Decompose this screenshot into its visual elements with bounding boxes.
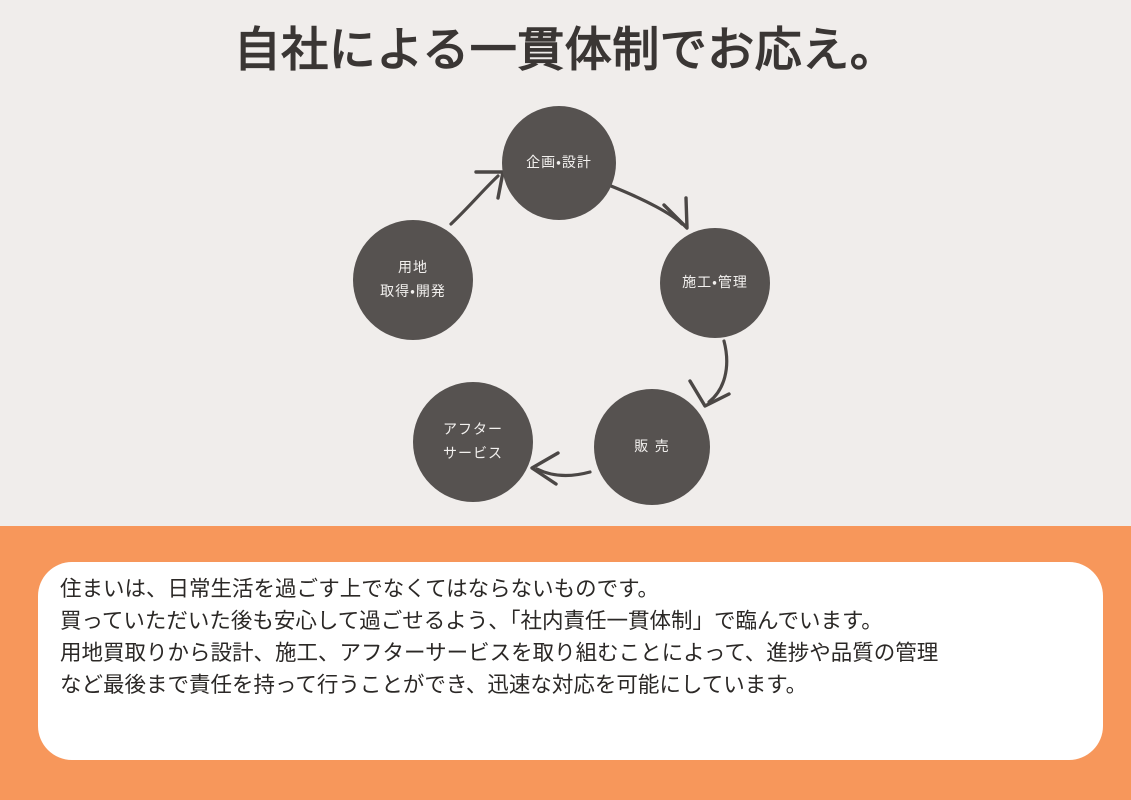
description-line-2: 買っていただいた後も安心して過ごせるよう、「社内責任一貫体制」で臨んでいます。 xyxy=(60,606,1090,638)
node-construction-label: 施工・管理 xyxy=(682,271,748,295)
node-land-label-2: 取得・開発 xyxy=(380,280,446,304)
page-root: 自社による一貫体制でお応え。 xyxy=(0,0,1131,800)
node-planning-label: 企画・設計 xyxy=(526,151,592,175)
arrow-land-to-planning xyxy=(451,172,503,224)
node-sales[interactable]: 販 売 xyxy=(594,389,710,505)
node-after-service[interactable]: アフター サービス xyxy=(413,382,533,502)
description-line-3: 用地買取りから設計、施工、アフターサービスを取り組むことによって、進捗や品質の管… xyxy=(60,638,1090,670)
node-planning[interactable]: 企画・設計 xyxy=(502,106,616,220)
cycle-diagram: 企画・設計 施工・管理 販 売 アフター サービス 用地 取得・ xyxy=(0,96,1131,526)
page-title: 自社による一貫体制でお応え。 xyxy=(0,22,1131,80)
node-sales-label: 販 売 xyxy=(634,435,669,459)
description-card: 住まいは、日常生活を過ごす上でなくてはならないものです。 買っていただいた後も安… xyxy=(38,562,1103,760)
description-line-1: 住まいは、日常生活を過ごす上でなくてはならないものです。 xyxy=(60,574,1090,606)
node-land[interactable]: 用地 取得・開発 xyxy=(353,220,473,340)
arrow-sales-to-after-service xyxy=(532,453,590,484)
arrow-planning-to-construction xyxy=(611,186,687,228)
description-line-4: など最後まで責任を持って行うことができ、迅速な対応を可能にしています。 xyxy=(60,670,1090,702)
description-text: 住まいは、日常生活を過ごす上でなくてはならないものです。 買っていただいた後も安… xyxy=(60,574,1090,702)
node-after-service-label-1: アフター xyxy=(443,418,503,442)
node-construction[interactable]: 施工・管理 xyxy=(660,228,770,338)
node-land-label-1: 用地 xyxy=(380,256,446,280)
node-after-service-label-2: サービス xyxy=(443,442,503,466)
arrow-construction-to-sales xyxy=(690,341,729,406)
